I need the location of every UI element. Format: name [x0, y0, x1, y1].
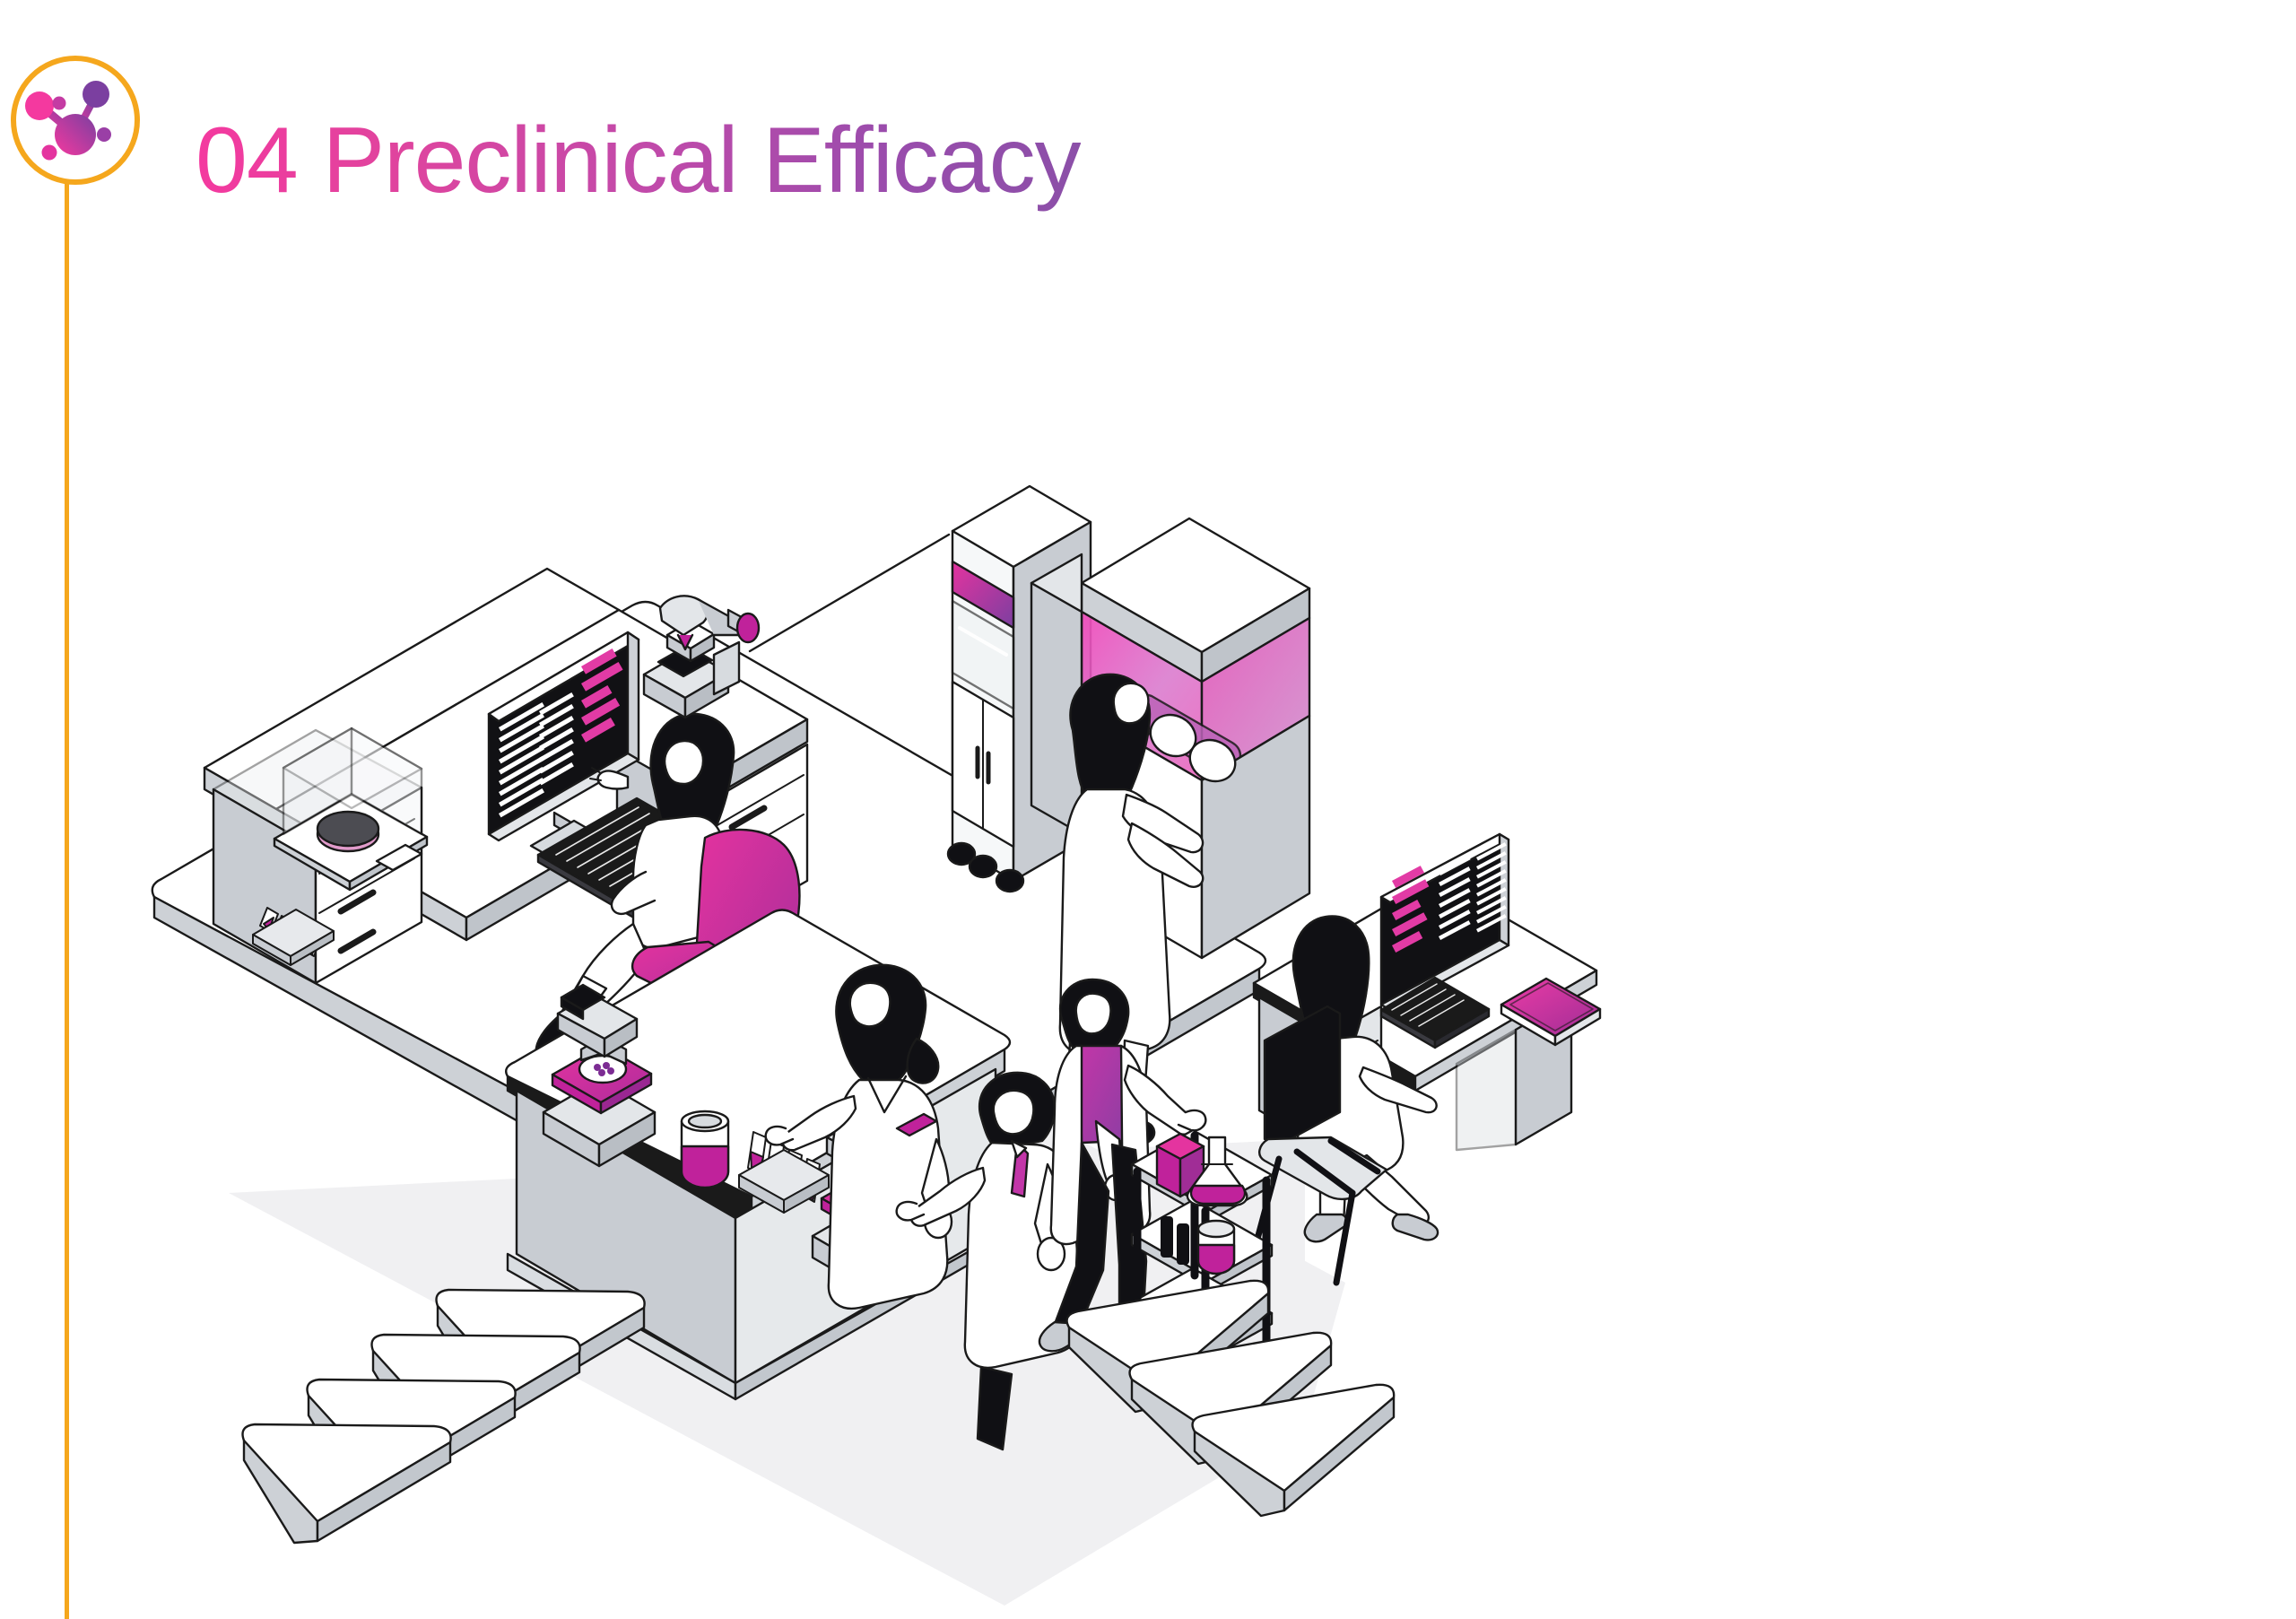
back-counter-line [750, 535, 949, 651]
slide-header: 04 Preclinical Efficacy [0, 0, 2296, 206]
molecule-icon [7, 52, 143, 188]
slide-canvas: 04 Preclinical Efficacy [0, 0, 2296, 1619]
step-slab [243, 1424, 451, 1543]
isometric-lab-illustration [0, 206, 1794, 1619]
beaker-center [682, 1111, 728, 1188]
page-title: 04 Preclinical Efficacy [196, 106, 1081, 216]
